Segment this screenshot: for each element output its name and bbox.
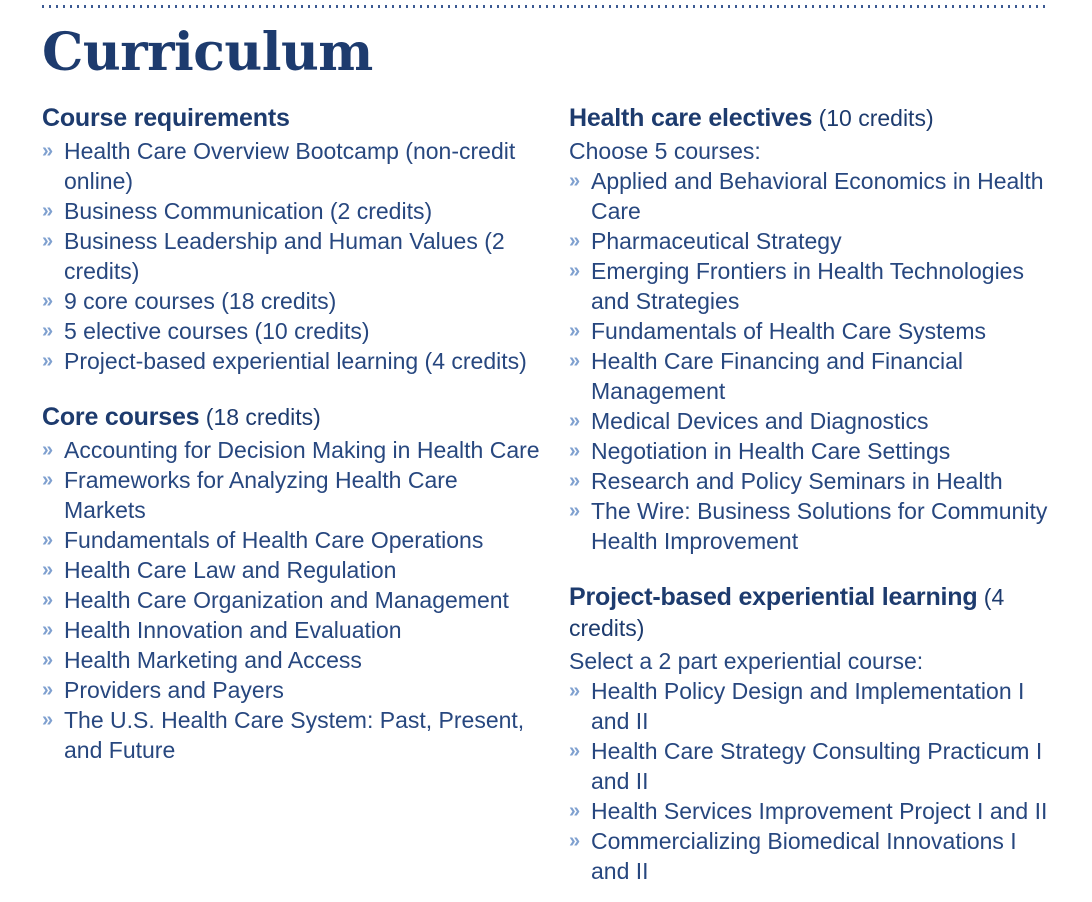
course-name: Pharmaceutical Strategy	[591, 228, 842, 254]
double-chevron-bullet-icon: »	[569, 496, 580, 526]
course-list-item: »Health Care Strategy Consulting Practic…	[569, 736, 1050, 796]
double-chevron-bullet-icon: »	[42, 136, 53, 166]
course-list-item: »Fundamentals of Health Care Operations	[42, 525, 543, 555]
double-chevron-bullet-icon: »	[569, 466, 580, 496]
course-list-item: »The Wire: Business Solutions for Commun…	[569, 496, 1050, 556]
double-chevron-bullet-icon: »	[42, 585, 53, 615]
section-heading: Course requirements	[42, 103, 543, 134]
course-name: Health Innovation and Evaluation	[64, 617, 402, 643]
section-note: Choose 5 courses:	[569, 136, 1050, 166]
double-chevron-bullet-icon: »	[569, 406, 580, 436]
course-list: »Health Care Overview Bootcamp (non-cred…	[42, 136, 543, 376]
course-list-item: »Fundamentals of Health Care Systems	[569, 316, 1050, 346]
course-name: 9 core courses (18 credits)	[64, 288, 336, 314]
course-name: Providers and Payers	[64, 677, 284, 703]
double-chevron-bullet-icon: »	[569, 166, 580, 196]
double-chevron-bullet-icon: »	[569, 436, 580, 466]
double-chevron-bullet-icon: »	[42, 615, 53, 645]
course-list: »Health Policy Design and Implementation…	[569, 676, 1050, 886]
course-list: »Accounting for Decision Making in Healt…	[42, 435, 543, 765]
course-name: Health Care Financing and Financial Mana…	[591, 348, 963, 404]
course-name: Fundamentals of Health Care Operations	[64, 527, 483, 553]
double-chevron-bullet-icon: »	[42, 465, 53, 495]
double-chevron-bullet-icon: »	[569, 346, 580, 376]
course-name: Fundamentals of Health Care Systems	[591, 318, 986, 344]
course-list-item: »The U.S. Health Care System: Past, Pres…	[42, 705, 543, 765]
curriculum-section: Project-based experiential learning (4 c…	[569, 582, 1050, 886]
double-chevron-bullet-icon: »	[42, 555, 53, 585]
right-column: Health care electives (10 credits)Choose…	[569, 103, 1050, 886]
section-note: Select a 2 part experiential course:	[569, 646, 1050, 676]
double-chevron-bullet-icon: »	[42, 705, 53, 735]
course-name: Business Communication (2 credits)	[64, 198, 432, 224]
curriculum-section: Course requirements»Health Care Overview…	[42, 103, 543, 376]
double-chevron-bullet-icon: »	[569, 826, 580, 856]
double-chevron-bullet-icon: »	[42, 346, 53, 376]
course-list-item: »Negotiation in Health Care Settings	[569, 436, 1050, 466]
course-name: Frameworks for Analyzing Health Care Mar…	[64, 467, 458, 523]
course-name: Research and Policy Seminars in Health	[591, 468, 1003, 494]
top-dotted-divider	[42, 5, 1046, 8]
course-list-item: »Applied and Behavioral Economics in Hea…	[569, 166, 1050, 226]
course-name: Health Care Overview Bootcamp (non-credi…	[64, 138, 515, 194]
double-chevron-bullet-icon: »	[42, 286, 53, 316]
course-list-item: »Health Care Overview Bootcamp (non-cred…	[42, 136, 543, 196]
double-chevron-bullet-icon: »	[569, 256, 580, 286]
course-name: Accounting for Decision Making in Health…	[64, 437, 540, 463]
course-list-item: »Health Care Law and Regulation	[42, 555, 543, 585]
course-name: Business Leadership and Human Values (2 …	[64, 228, 505, 284]
double-chevron-bullet-icon: »	[569, 226, 580, 256]
course-name: Health Care Law and Regulation	[64, 557, 396, 583]
course-list-item: »Pharmaceutical Strategy	[569, 226, 1050, 256]
course-list-item: »Health Policy Design and Implementation…	[569, 676, 1050, 736]
course-name: 5 elective courses (10 credits)	[64, 318, 370, 344]
course-list-item: »Frameworks for Analyzing Health Care Ma…	[42, 465, 543, 525]
double-chevron-bullet-icon: »	[42, 645, 53, 675]
course-list-item: »Health Innovation and Evaluation	[42, 615, 543, 645]
double-chevron-bullet-icon: »	[569, 796, 580, 826]
course-name: The Wire: Business Solutions for Communi…	[591, 498, 1047, 554]
course-list-item: »Accounting for Decision Making in Healt…	[42, 435, 543, 465]
course-name: Health Care Organization and Management	[64, 587, 509, 613]
course-name: The U.S. Health Care System: Past, Prese…	[64, 707, 524, 763]
double-chevron-bullet-icon: »	[42, 316, 53, 346]
double-chevron-bullet-icon: »	[569, 676, 580, 706]
course-name: Negotiation in Health Care Settings	[591, 438, 950, 464]
double-chevron-bullet-icon: »	[42, 226, 53, 256]
left-column: Course requirements»Health Care Overview…	[42, 103, 569, 886]
section-heading: Core courses (18 credits)	[42, 402, 543, 433]
curriculum-section: Health care electives (10 credits)Choose…	[569, 103, 1050, 556]
course-list-item: »Research and Policy Seminars in Health	[569, 466, 1050, 496]
course-list-item: »9 core courses (18 credits)	[42, 286, 543, 316]
double-chevron-bullet-icon: »	[569, 736, 580, 766]
course-name: Health Marketing and Access	[64, 647, 362, 673]
course-list-item: »Business Communication (2 credits)	[42, 196, 543, 226]
course-name: Health Services Improvement Project I an…	[591, 798, 1047, 824]
course-list-item: »Providers and Payers	[42, 675, 543, 705]
course-name: Commercializing Biomedical Innovations I…	[591, 828, 1017, 884]
section-heading-text: Project-based experiential learning	[569, 583, 977, 611]
course-name: Health Care Strategy Consulting Practicu…	[591, 738, 1042, 794]
section-heading-text: Health care electives	[569, 104, 812, 132]
course-name: Health Policy Design and Implementation …	[591, 678, 1024, 734]
double-chevron-bullet-icon: »	[42, 196, 53, 226]
section-heading: Health care electives (10 credits)	[569, 103, 1050, 134]
course-list: »Applied and Behavioral Economics in Hea…	[569, 166, 1050, 556]
curriculum-columns: Course requirements»Health Care Overview…	[42, 103, 1050, 886]
course-list-item: »Commercializing Biomedical Innovations …	[569, 826, 1050, 886]
double-chevron-bullet-icon: »	[42, 435, 53, 465]
section-heading-text: Course requirements	[42, 104, 290, 132]
double-chevron-bullet-icon: »	[42, 525, 53, 555]
course-list-item: »Health Care Organization and Management	[42, 585, 543, 615]
course-list-item: »Medical Devices and Diagnostics	[569, 406, 1050, 436]
page-title: Curriculum	[42, 22, 373, 84]
double-chevron-bullet-icon: »	[42, 675, 53, 705]
course-list-item: »Emerging Frontiers in Health Technologi…	[569, 256, 1050, 316]
double-chevron-bullet-icon: »	[569, 316, 580, 346]
course-name: Applied and Behavioral Economics in Heal…	[591, 168, 1044, 224]
section-credits: (10 credits)	[812, 105, 933, 131]
curriculum-section: Core courses (18 credits)»Accounting for…	[42, 402, 543, 765]
section-heading: Project-based experiential learning (4 c…	[569, 582, 1050, 644]
course-list-item: »Health Marketing and Access	[42, 645, 543, 675]
course-name: Emerging Frontiers in Health Technologie…	[591, 258, 1024, 314]
course-list-item: »Health Care Financing and Financial Man…	[569, 346, 1050, 406]
section-credits: (18 credits)	[199, 404, 320, 430]
course-list-item: »Health Services Improvement Project I a…	[569, 796, 1050, 826]
course-list-item: »Business Leadership and Human Values (2…	[42, 226, 543, 286]
course-list-item: »Project-based experiential learning (4 …	[42, 346, 543, 376]
course-list-item: »5 elective courses (10 credits)	[42, 316, 543, 346]
section-heading-text: Core courses	[42, 403, 199, 431]
curriculum-page: Curriculum Course requirements»Health Ca…	[0, 0, 1092, 902]
course-name: Medical Devices and Diagnostics	[591, 408, 929, 434]
course-name: Project-based experiential learning (4 c…	[64, 348, 527, 374]
